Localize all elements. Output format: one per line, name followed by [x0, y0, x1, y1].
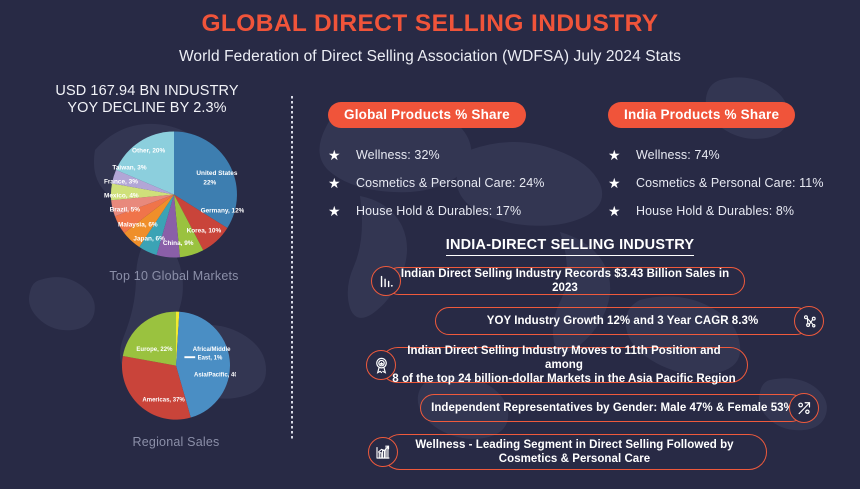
pie-chart-regional-caption: Regional Sales: [116, 435, 236, 449]
star-icon: ★: [328, 204, 348, 218]
fact-pill-gender-split-label: Independent Representatives by Gender: M…: [421, 401, 804, 415]
fact-pill-wellness-leading-line2: Cosmetics & Personal Care: [393, 452, 756, 466]
india-section-heading: INDIA-DIRECT SELLING INDUSTRY: [370, 237, 770, 253]
star-icon: ★: [328, 148, 348, 162]
pie-label-japan: Japan, 6%: [133, 236, 165, 243]
fact-pill-11th-position-label: Indian Direct Selling Industry Moves to …: [381, 344, 747, 386]
india-section-heading-text: INDIA-DIRECT SELLING INDUSTRY: [446, 237, 695, 256]
fact-pill-yoy-growth[interactable]: YOY Industry Growth 12% and 3 Year CAGR …: [435, 307, 810, 335]
bar-chart-icon: [371, 266, 401, 296]
pie-label-europe: Europe, 22%: [136, 347, 173, 353]
star-icon: ★: [608, 148, 628, 162]
pie-label-france: France, 3%: [104, 178, 138, 185]
pie-label-brazil: Brazil, 5%: [110, 206, 141, 213]
pie-label-africa-line2: East, 1%: [198, 356, 223, 362]
pie-chart-regional-sales: Africa/Middle East, 1% Asia/Pacific, 40%…: [116, 303, 236, 449]
fact-pill-wellness-leading-label: Wellness - Leading Segment in Direct Sel…: [383, 438, 766, 466]
award-medal-icon: [366, 350, 396, 380]
fact-pill-11th-position[interactable]: Indian Direct Selling Industry Moves to …: [380, 347, 748, 383]
india-products-share-block: India Products % Share ★ Wellness: 74% ★…: [608, 102, 858, 225]
percent-arrow-icon: [789, 393, 819, 423]
pie-label-other: Other, 20%: [132, 148, 165, 155]
pie-label-asia-pacific: Asia/Pacific, 40%: [194, 372, 236, 378]
pie-chart-top10-caption: Top 10 Global Markets: [104, 269, 244, 283]
global-products-share-block: Global Products % Share ★ Wellness: 32% …: [328, 102, 578, 225]
star-icon: ★: [328, 176, 348, 190]
fact-pill-sales-2023-label: Indian Direct Selling Industry Records $…: [386, 267, 744, 295]
pie-label-africa-line1: Africa/Middle: [193, 347, 231, 353]
fact-pill-gender-split[interactable]: Independent Representatives by Gender: M…: [420, 394, 805, 422]
pie-label-malaysia: Malaysia, 6%: [118, 222, 158, 229]
vertical-dotted-divider: [291, 96, 293, 440]
pie-label-china: China, 9%: [163, 240, 194, 247]
network-nodes-icon: [794, 306, 824, 336]
pie-label-taiwan: Taiwan, 3%: [112, 164, 146, 171]
pie-label-united-states-2: 22%: [203, 180, 216, 187]
industry-headline-line2: YOY DECLINE BY 2.3%: [16, 100, 278, 117]
pie-label-mexico: Mexico, 4%: [104, 192, 139, 199]
list-item: ★ Cosmetics & Personal Care: 11%: [608, 169, 858, 197]
list-item: ★ Cosmetics & Personal Care: 24%: [328, 169, 578, 197]
page-subtitle: World Federation of Direct Selling Assoc…: [0, 48, 860, 66]
list-item: ★ House Hold & Durables: 17%: [328, 197, 578, 225]
global-products-heading: Global Products % Share: [328, 102, 526, 128]
india-share-item-2: House Hold & Durables: 8%: [628, 204, 794, 218]
list-item: ★ Wellness: 74%: [608, 141, 858, 169]
list-item: ★ Wellness: 32%: [328, 141, 578, 169]
fact-pill-wellness-leading-line1: Wellness - Leading Segment in Direct Sel…: [393, 438, 756, 452]
fact-pill-wellness-leading[interactable]: Wellness - Leading Segment in Direct Sel…: [382, 434, 767, 470]
fact-pill-sales-2023[interactable]: Indian Direct Selling Industry Records $…: [385, 267, 745, 295]
india-share-item-1: Cosmetics & Personal Care: 11%: [628, 176, 824, 190]
pie-label-germany: Germany, 12%: [201, 208, 244, 215]
pie-chart-regional-svg: Africa/Middle East, 1% Asia/Pacific, 40%…: [116, 303, 236, 433]
global-share-item-2: House Hold & Durables: 17%: [348, 204, 521, 218]
star-icon: ★: [608, 204, 628, 218]
pie-label-united-states-1: United States: [196, 170, 237, 177]
fact-pill-11th-position-line2: 8 of the top 24 billion-dollar Markets i…: [391, 372, 737, 386]
india-products-list: ★ Wellness: 74% ★ Cosmetics & Personal C…: [608, 141, 858, 225]
page-title: GLOBAL DIRECT SELLING INDUSTRY: [0, 10, 860, 38]
global-share-item-0: Wellness: 32%: [348, 148, 440, 162]
global-products-list: ★ Wellness: 32% ★ Cosmetics & Personal C…: [328, 141, 578, 225]
pie-chart-top10-global-markets: United States 22% Germany, 12% Korea, 10…: [104, 122, 244, 283]
india-share-item-0: Wellness: 74%: [628, 148, 720, 162]
industry-headline-line1: USD 167.94 BN INDUSTRY: [16, 83, 278, 100]
pie-label-korea: Korea, 10%: [187, 227, 222, 234]
industry-headline: USD 167.94 BN INDUSTRY YOY DECLINE BY 2.…: [16, 83, 278, 117]
global-share-item-1: Cosmetics & Personal Care: 24%: [348, 176, 545, 190]
infographic-canvas: GLOBAL DIRECT SELLING INDUSTRY World Fed…: [0, 0, 860, 484]
star-icon: ★: [608, 176, 628, 190]
fact-pill-11th-position-line1: Indian Direct Selling Industry Moves to …: [391, 344, 737, 372]
fact-pill-yoy-growth-label: YOY Industry Growth 12% and 3 Year CAGR …: [436, 314, 809, 328]
pie-label-americas: Americas, 37%: [142, 398, 185, 404]
list-item: ★ House Hold & Durables: 8%: [608, 197, 858, 225]
pie-chart-top10-svg: United States 22% Germany, 12% Korea, 10…: [104, 122, 244, 267]
growth-chart-icon: [368, 437, 398, 467]
india-products-heading: India Products % Share: [608, 102, 795, 128]
